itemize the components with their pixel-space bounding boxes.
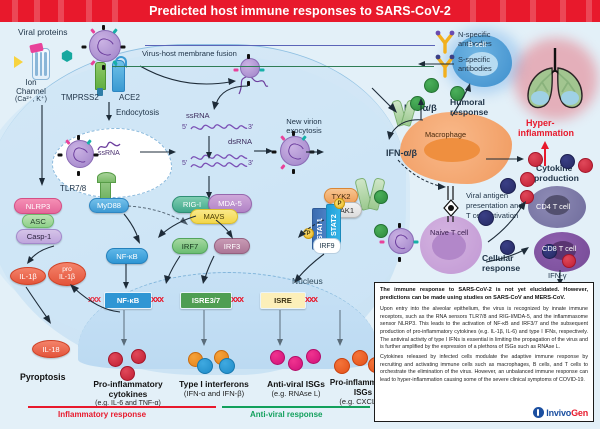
proinf-isg-dot [352,350,368,366]
naive-t-cell-label: Naive T cell [430,228,468,237]
dsrna-strand [190,152,248,172]
outcome-pyroptosis-title: Pyroptosis [20,372,65,382]
node-asc: ASC [22,214,54,228]
viral-proteins-label: Viral proteins [18,28,67,38]
invivogen-wordmark: InvivoGen [546,408,588,418]
ifn-molecule [374,224,388,238]
arrow-genome-to-ssrna [208,84,252,112]
arrow-virion-exit [306,147,326,157]
arrow-to-b-cell [416,58,456,72]
virus-particle-entry [89,30,119,60]
membrane-fusion-label: Virus-host membrane fusion [142,50,237,59]
node-casp1: Casp-1 [16,229,62,244]
arrow-irf3-into-nucleus [196,254,222,288]
hyper-inflammation-label-1: Hyper- [526,118,555,128]
panel-paragraph-2: Cytokines released by infected cells mod… [380,354,588,385]
tmprss2-label: TMPRSS2 [61,93,99,102]
dsrna-label: dsRNA [228,138,252,147]
viral-protein-yellow-glyph [14,56,23,68]
virus-particle-endosome [66,140,92,166]
cytokine-dot [120,366,135,381]
cytokine-dot [520,172,535,187]
cytokine-dot [131,349,146,364]
phosphorylation-stat2: P [334,198,345,209]
interferon-dot [219,358,235,374]
panel-lead-text: The immune response to SARS-CoV-2 is not… [380,287,588,303]
node-nfkb-cytoplasm: NF-κB [106,248,148,264]
inflammatory-response-rule [28,406,216,408]
arrow-naive-to-cd8 [484,244,532,272]
arrow-il1b-to-il13 [24,285,56,327]
cd4-t-cell-label: CD4 T cell [536,202,570,211]
brand-name-part2: Gen [571,408,588,418]
promoter-isre-xxx: xxx [305,294,317,304]
connector-s-antigen [112,66,434,67]
arrow-to-hyperinflammation [540,140,552,168]
s-antibody-label-2: antibodies [458,65,492,74]
ifn-alpha-beta-label-left: IFN-α/β [386,148,417,158]
arrow-endocytosis [104,102,116,122]
arrow-nucleus-to-proil1b [68,282,124,316]
pro-il1b-line1: pro [62,267,72,274]
arrow-ionchannel-to-nlrp3 [38,105,48,187]
invivogen-mark-icon [533,407,544,418]
invivogen-logo: InvivoGen [533,407,588,418]
ssrna-strand [190,121,248,135]
ion-channel-icon [32,48,50,80]
connector-n-antigen [145,45,435,46]
node-il18: IL-18 [32,340,70,358]
pro-il1b-line2: IL-1β [59,274,75,281]
lungs-icon [518,42,592,116]
viral-protein-teal-glyph [61,50,73,62]
arrow-nfkb-output [120,310,130,348]
promoter-isre37: ISRE3/7 [180,292,232,309]
arrow-ifn-secretion-curve [385,118,429,146]
hyper-inflammation-label-2: inflammation [518,128,574,138]
ssrna-5prime: 5' [182,124,187,131]
ssrna-label: ssRNA [186,112,210,121]
node-myd88: MyD88 [89,198,129,213]
promoter-isre: ISRE [260,292,306,309]
cytokine-production-label-2: production [534,174,579,184]
arrow-dsrna-to-sensors [205,176,215,200]
endocytosis-label: Endocytosis [116,108,159,117]
isg-dot [270,350,285,365]
tlr78-label: TLR7/8 [60,184,86,193]
page-title: Predicted host immune responses to SARS-… [149,4,451,18]
cytokine-dot [108,352,123,367]
promoter-nfkb-xxx: xxx [151,294,163,304]
virus-particle-released [388,228,412,252]
arrow-humoral-response [448,82,474,118]
arrow-isg-output [336,310,346,348]
b-cell-label: B cell [468,40,486,49]
ion-channel-label-line1: Ion [8,78,54,87]
arrow-isre-output [276,310,286,348]
endosomal-ssrna-label: ssRNA [98,150,120,158]
antiviral-response-label: Anti-viral response [250,410,322,419]
arrow-casp1-to-il1b [24,244,58,266]
arrow-naive-to-cd4 [484,196,530,246]
arrow-irf7-into-nucleus [160,254,186,288]
inflammatory-response-label: Inflammatory response [58,410,146,419]
outcome-proinf-cyt-title-2: cytokines [78,390,178,400]
description-panel: The immune response to SARS-CoV-2 is not… [374,282,594,422]
arrow-jak1-to-stat [296,218,326,242]
virus-particle-new [280,136,308,164]
arrow-endosome-to-replication [140,146,180,158]
antigen-presentation-synapse-icon [442,186,460,227]
brand-name-part1: Invivo [546,408,571,418]
antiviral-response-rule [222,406,370,408]
arrow-nfkb-into-nucleus [122,264,132,290]
arrow-ssrna-to-dsrna [205,136,215,160]
interferon-dot [197,358,213,374]
ssrna-3prime: 3' [248,124,253,131]
ifn-molecule [424,78,439,93]
macrophage-label: Macrophage [425,130,466,139]
arrow-mavs-to-irf3 [214,218,238,242]
isg-dot [306,349,321,364]
arrow-virion-to-ifn-receptor [370,86,404,116]
proinf-isg-dot [334,358,350,374]
cytokine-dot [562,254,576,268]
arrow-to-new-virion [254,145,276,157]
infographic-root: Predicted host immune responses to SARS-… [0,0,600,429]
immune-cell-dot [500,178,516,194]
cytokine-dot [578,158,593,173]
arrow-stat-to-isre [290,252,328,288]
ion-channel-label-line3: (Ca²⁺, K⁺) [3,96,59,104]
immune-cell-dot [560,154,575,169]
node-nlrp3: NLRP3 [14,198,62,214]
page-title-bar: Predicted host immune responses to SARS-… [0,0,600,22]
arrow-isre37-output [200,310,210,348]
ifn-molecule [374,190,388,204]
ion-channel-label-line2: Channel [4,87,58,96]
arrow-to-cytokine-production [486,152,528,166]
outcome-typei-ifn-sub: (IFN-α and IFN-β) [170,390,258,399]
isg-dot [288,356,303,371]
ace2-label: ACE2 [119,93,140,102]
dsrna-5prime: 5' [182,160,187,167]
arrow-macrophage-to-naive-t [396,158,450,192]
arrow-mavs-to-irf7 [156,214,198,242]
cd8-t-cell-label: CD8 T cell [542,244,576,253]
promoter-isre37-xxx: xxx [231,294,243,304]
panel-paragraph-1: Upon entry into the alveolar epithelium,… [380,306,588,352]
dsrna-3prime: 3' [248,160,253,167]
node-il1b: IL-1β [10,267,46,285]
